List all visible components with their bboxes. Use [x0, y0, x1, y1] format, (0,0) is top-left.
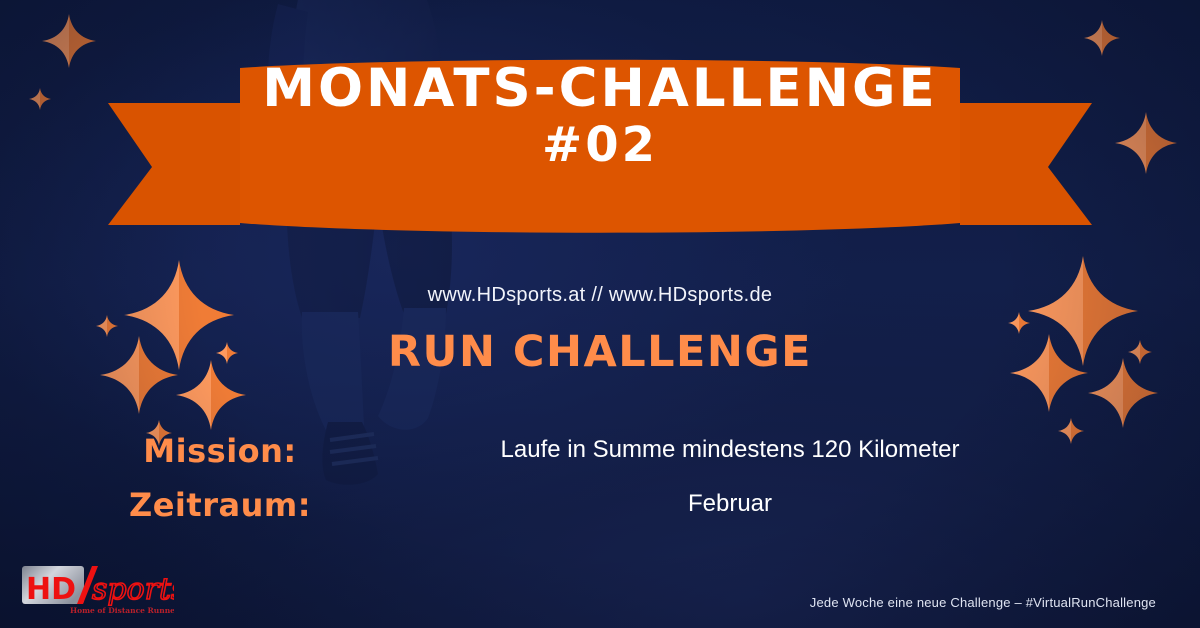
- poster-canvas: MONATS-CHALLENGE #02 www.HDsports.at // …: [0, 0, 1200, 628]
- detail-value-mission: Laufe in Summe mindestens 120 Kilometer: [420, 432, 1040, 464]
- sparkle-top-right-medium-icon: [1115, 112, 1177, 174]
- ribbon-main-plate: [240, 60, 960, 233]
- ribbon-tail-right: [960, 103, 1092, 225]
- challenge-subtitle: RUN CHALLENGE: [0, 327, 1200, 377]
- detail-label-zeitraum: Zeitraum:: [0, 486, 440, 524]
- footer-text: Jede Woche eine neue Challenge – #Virtua…: [810, 595, 1156, 610]
- logo-tagline: Home of Distance Runners: [70, 606, 174, 615]
- logo-sports-text: sports: [92, 572, 174, 607]
- detail-value-zeitraum: Februar: [420, 486, 1040, 518]
- ribbon-banner: [100, 55, 1100, 235]
- sparkle-top-left-medium-icon: [42, 14, 96, 68]
- logo-hd-text: HD: [26, 572, 76, 607]
- website-line: www.HDsports.at // www.HDsports.de: [0, 284, 1200, 307]
- ribbon-tail-left: [108, 103, 240, 225]
- challenge-details: Mission: Laufe in Summe mindestens 120 K…: [0, 432, 1200, 540]
- detail-label-mission: Mission:: [0, 432, 440, 470]
- sparkle-top-right-small-icon: [1084, 20, 1120, 56]
- detail-row-zeitraum: Zeitraum: Februar: [0, 486, 1200, 540]
- detail-row-mission: Mission: Laufe in Summe mindestens 120 K…: [0, 432, 1200, 486]
- sparkle-top-left-tiny-icon: [29, 88, 51, 110]
- hdsports-logo: HD sports Home of Distance Runners: [14, 558, 174, 618]
